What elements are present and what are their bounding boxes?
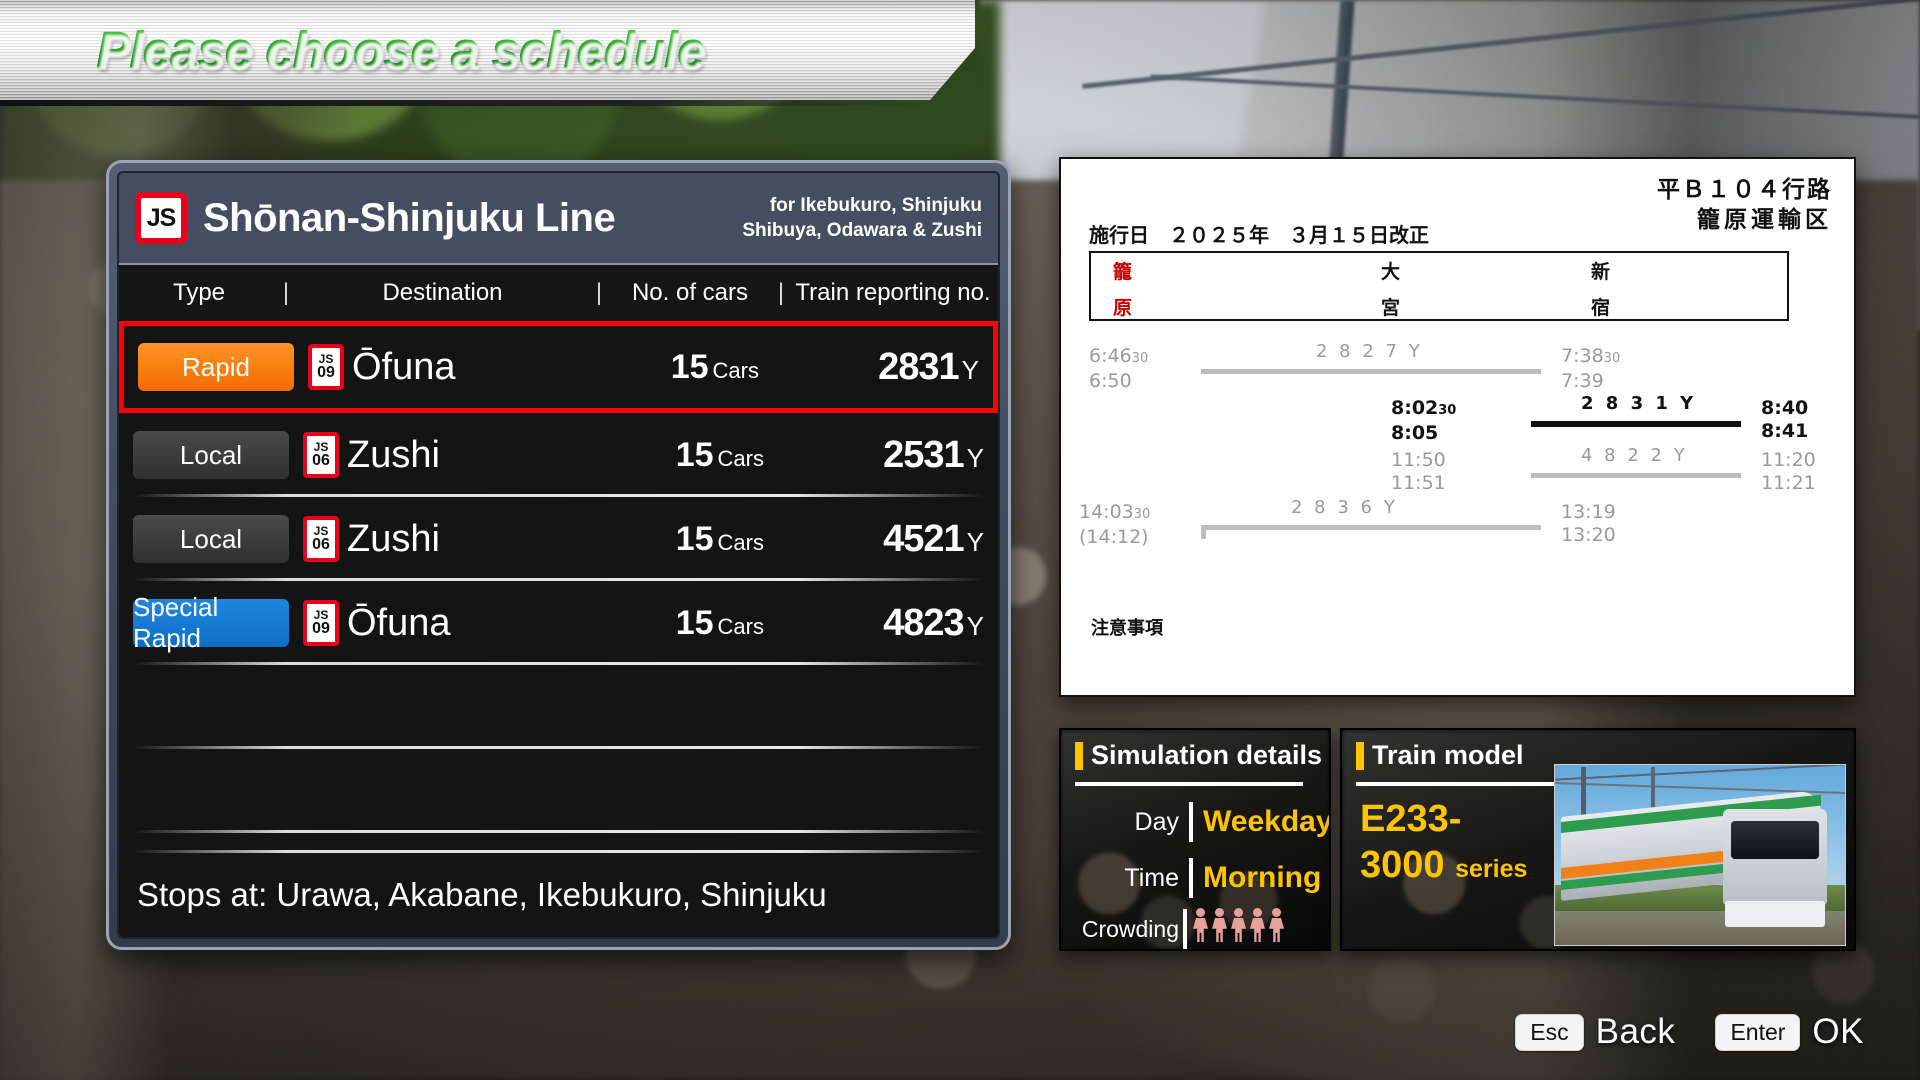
station-3-top: 新 (1591, 257, 1610, 284)
column-separator: | (592, 279, 606, 307)
schedule-type-label: Rapid (182, 352, 250, 383)
depot-name: 籠原運輸区 (1657, 205, 1832, 235)
schedule-row[interactable]: LocalJS06Zushi15Cars2531Y (119, 413, 998, 497)
run-left-times: 14:0330(14:12) (1079, 501, 1150, 549)
run-left-departure: 6:4630 (1089, 345, 1148, 370)
divider-icon (1189, 802, 1193, 842)
run-right-times: 7:38307:39 (1561, 345, 1620, 393)
schedule-reporting-suffix: Y (962, 355, 979, 385)
run-left-arrival: 6:50 (1089, 370, 1148, 393)
line-destinations: for Ikebukuro, Shinjuku Shibuya, Odawara… (742, 193, 982, 243)
schedule-cars-unit: Cars (713, 358, 759, 383)
ok-hint[interactable]: Enter OK (1715, 1012, 1864, 1052)
run-right-departure: 8:40 (1761, 397, 1808, 420)
schedule-row-empty (119, 749, 998, 833)
run-right-arrival: 13:20 (1561, 524, 1616, 547)
divider-icon (1189, 858, 1193, 898)
train-model-name: E233- 3000 series (1360, 796, 1527, 892)
photo-front-skirt (1725, 901, 1825, 927)
station-3-bottom: 宿 (1591, 293, 1610, 320)
sim-row-day: Day Weekday (1067, 802, 1331, 842)
duty-card-header: 平Ｂ１０４行路 籠原運輸区 (1657, 175, 1832, 235)
schedule-cars-count: 15 (676, 436, 714, 474)
run-left-times: 8:02308:05 (1391, 397, 1456, 445)
title-underline (1356, 782, 1556, 786)
run-right-times: 13:1913:20 (1561, 501, 1616, 547)
run-right-times: 8:408:41 (1761, 397, 1808, 443)
schedule-rows: RapidJS09Ōfuna15Cars2831YLocalJS06Zushi1… (119, 321, 998, 917)
schedule-type-label: Local (180, 524, 242, 555)
photo-cab-window (1731, 821, 1819, 859)
stops-at-text: Stops at: Urawa, Akabane, Ikebukuro, Shi… (119, 853, 998, 937)
column-header-reporting-no: Train reporting no. (788, 279, 998, 307)
duty-code: 平Ｂ１０４行路 (1657, 175, 1832, 205)
schedule-type-badge: Rapid (138, 343, 294, 391)
line-name: Shōnan-Shinjuku Line (203, 196, 615, 241)
title-underline (1075, 782, 1303, 786)
train-model-title-text: Train model (1372, 740, 1524, 771)
sim-time-label: Time (1067, 864, 1179, 893)
station-1-bottom: 原 (1113, 293, 1132, 320)
run-right-departure: 11:20 (1761, 449, 1816, 472)
schedule-cars-unit: Cars (718, 614, 764, 639)
schedule-reporting-no: 4521Y (764, 518, 984, 561)
station-number-badge: JS06 (303, 432, 339, 478)
schedule-destination: Ōfuna (352, 346, 456, 389)
schedule-reporting-suffix: Y (967, 443, 984, 473)
run-train-number: 2 8 3 6 Y (1291, 497, 1398, 518)
sim-day-value: Weekday (1203, 805, 1331, 839)
schedule-reporting-suffix: Y (967, 527, 984, 557)
station-number-badge: JS06 (303, 516, 339, 562)
simulation-details-title-text: Simulation details (1091, 740, 1322, 771)
run-left-departure: 8:0230 (1391, 397, 1456, 422)
station-1-top: 籠 (1113, 257, 1132, 284)
schedule-destination: Ōfuna (347, 602, 451, 645)
duty-schedule-card: 平Ｂ１０４行路 籠原運輸区 施行日 ２０２５年 ３月１５日改正 籠 原 大 宮 … (1059, 157, 1856, 697)
accent-bar-icon (1075, 742, 1083, 770)
back-label: Back (1596, 1012, 1676, 1052)
train-model-title: Train model (1356, 740, 1524, 771)
run-train-number: 4 8 2 2 Y (1581, 445, 1688, 466)
duty-run-diagram: 2 8 2 7 Y6:46306:507:38307:392 8 3 1 Y8:… (1061, 339, 1858, 609)
schedule-type-label: Local (180, 440, 242, 471)
person-icon (1212, 908, 1227, 942)
run-line (1531, 473, 1741, 478)
run-end-tick (1201, 525, 1206, 539)
run-right-departure: 13:19 (1561, 501, 1616, 524)
train-model-name-line1: E233- (1360, 796, 1527, 842)
sim-crowding-label: Crowding (1067, 916, 1179, 943)
header-banner: Please choose a schedule (0, 0, 975, 100)
station-2-top: 大 (1381, 257, 1400, 284)
person-icon (1231, 908, 1246, 942)
train-model-series-suffix: series (1455, 855, 1527, 883)
schedule-type-badge: Special Rapid (133, 599, 289, 647)
column-separator: | (774, 279, 788, 307)
schedule-cars-count: 15 (671, 348, 709, 386)
station-number: 06 (312, 537, 330, 553)
schedule-destination: Zushi (347, 434, 440, 477)
schedule-reporting-no: 2831Y (759, 346, 979, 389)
schedule-cars-unit: Cars (718, 530, 764, 555)
schedule-cars: 15Cars (676, 436, 764, 475)
schedule-cars: 15Cars (676, 520, 764, 559)
simulation-details-panel: Simulation details Day Weekday Time Morn… (1059, 728, 1331, 951)
sim-day-label: Day (1067, 808, 1179, 837)
column-header-cars: No. of cars (606, 279, 774, 307)
column-separator: | (279, 279, 293, 307)
schedule-row-empty (119, 665, 998, 749)
sim-row-time: Time Morning (1067, 858, 1321, 898)
simulation-details-title: Simulation details (1075, 740, 1322, 771)
station-columns-grid: 籠 原 大 宮 新 宿 (1089, 251, 1789, 321)
schedule-reporting-number: 4521 (883, 518, 964, 560)
run-right-arrival: 8:41 (1761, 420, 1808, 443)
effective-date: 施行日 ２０２５年 ３月１５日改正 (1089, 219, 1429, 248)
station-number: 06 (312, 453, 330, 469)
schedule-row[interactable]: LocalJS06Zushi15Cars4521Y (119, 497, 998, 581)
station-2-bottom: 宮 (1381, 293, 1400, 320)
run-train-number: 2 8 3 1 Y (1581, 393, 1696, 414)
schedule-cars-unit: Cars (718, 446, 764, 471)
train-photo (1554, 764, 1846, 946)
run-left-arrival: (14:12) (1079, 526, 1150, 549)
line-destinations-row1: for Ikebukuro, Shinjuku (742, 193, 982, 218)
person-icon (1269, 908, 1284, 942)
key-hints: Esc Back Enter OK (1475, 1012, 1864, 1052)
run-left-times: 11:5011:51 (1391, 449, 1446, 495)
schedule-cars-count: 15 (676, 520, 714, 558)
run-left-departure: 11:50 (1391, 449, 1446, 472)
run-left-arrival: 11:51 (1391, 472, 1446, 495)
schedule-type-badge: Local (133, 515, 289, 563)
run-right-arrival: 7:39 (1561, 370, 1620, 393)
line-destinations-row2: Shibuya, Odawara & Zushi (742, 218, 982, 243)
run-line (1531, 421, 1741, 427)
run-line (1201, 525, 1541, 530)
column-header-destination: Destination (293, 279, 592, 307)
station-number: 09 (312, 621, 330, 637)
run-left-departure: 14:0330 (1079, 501, 1150, 526)
accent-bar-icon (1356, 742, 1364, 770)
column-header-row: Type | Destination | No. of cars | Train… (119, 263, 998, 321)
train-model-name-line2-wrap: 3000 series (1360, 842, 1527, 892)
run-right-times: 11:2011:21 (1761, 449, 1816, 495)
schedule-cars: 15Cars (671, 348, 759, 387)
schedule-reporting-number: 2831 (878, 346, 959, 388)
station-number-badge: JS09 (303, 600, 339, 646)
schedule-reporting-no: 4823Y (764, 602, 984, 645)
schedule-destination: Zushi (347, 518, 440, 561)
train-model-panel: Train model E233- 3000 series (1340, 728, 1856, 951)
divider-icon (1183, 909, 1187, 949)
crowding-level-icons (1193, 908, 1288, 950)
schedule-row[interactable]: RapidJS09Ōfuna15Cars2831Y (119, 321, 998, 413)
schedule-reporting-number: 2531 (883, 434, 964, 476)
run-left-arrival: 8:05 (1391, 422, 1456, 445)
schedule-type-label: Special Rapid (133, 592, 289, 654)
enter-keycap[interactable]: Enter (1715, 1014, 1800, 1051)
esc-keycap[interactable]: Esc (1515, 1014, 1583, 1051)
schedule-list-inner: JS Shōnan-Shinjuku Line for Ikebukuro, S… (117, 171, 1000, 939)
schedule-row[interactable]: Special RapidJS09Ōfuna15Cars4823Y (119, 581, 998, 665)
schedule-cars: 15Cars (676, 604, 764, 643)
schedule-reporting-suffix: Y (967, 611, 984, 641)
schedule-list-panel: JS Shōnan-Shinjuku Line for Ikebukuro, S… (106, 160, 1011, 950)
line-badge-js: JS (135, 192, 187, 244)
back-hint[interactable]: Esc Back (1515, 1012, 1675, 1052)
schedule-reporting-number: 4823 (883, 602, 964, 644)
run-right-arrival: 11:21 (1761, 472, 1816, 495)
schedule-type-badge: Local (133, 431, 289, 479)
run-right-departure: 7:3830 (1561, 345, 1620, 370)
run-train-number: 2 8 2 7 Y (1316, 341, 1423, 362)
row-divider (133, 830, 984, 833)
schedule-reporting-no: 2531Y (764, 434, 984, 477)
schedule-cars-count: 15 (676, 604, 714, 642)
page-title: Please choose a schedule (96, 18, 704, 82)
station-number: 09 (317, 365, 335, 381)
sim-time-value: Morning (1203, 861, 1321, 895)
notes-label: 注意事項 (1091, 614, 1163, 640)
person-icon (1250, 908, 1265, 942)
person-icon (1193, 908, 1208, 942)
run-line (1201, 369, 1541, 374)
train-model-name-line2: 3000 (1360, 844, 1445, 886)
run-left-times: 6:46306:50 (1089, 345, 1148, 393)
banner-underline (0, 100, 930, 106)
column-header-type: Type (119, 279, 279, 307)
ok-label: OK (1812, 1012, 1864, 1052)
sim-row-crowding: Crowding (1067, 908, 1288, 950)
line-header: JS Shōnan-Shinjuku Line for Ikebukuro, S… (119, 173, 998, 263)
station-number-badge: JS09 (308, 344, 344, 390)
line-badge-label: JS (141, 198, 181, 238)
